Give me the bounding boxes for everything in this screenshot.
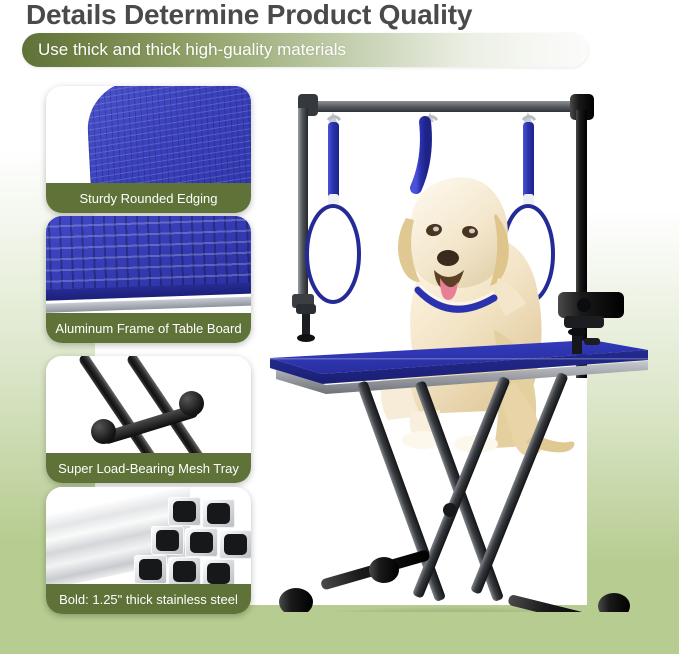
feature-card-aluminum-frame: Aluminum Frame of Table Board — [46, 216, 251, 343]
feature-card-mesh-tray: Super Load-Bearing Mesh Tray — [46, 356, 251, 483]
feature-image-aluminum-frame — [46, 216, 251, 313]
blue-mat-corner-shape — [86, 86, 251, 183]
feature-label-rounded-edging: Sturdy Rounded Edging — [46, 183, 251, 213]
grooming-noose-center — [416, 112, 437, 188]
tray-end-cap-right — [179, 391, 204, 416]
steel-tube — [202, 559, 235, 584]
page-title: Details Determine Product Quality — [26, 0, 472, 31]
steel-tube — [134, 555, 167, 584]
foot-front-left — [279, 588, 313, 612]
product-infographic: Details Determine Product Quality Use th… — [0, 0, 679, 654]
feature-image-rounded-edging — [46, 86, 251, 183]
steel-tube — [151, 526, 184, 555]
feature-label-aluminum-frame: Aluminum Frame of Table Board — [46, 313, 251, 343]
steel-tube — [168, 497, 201, 526]
steel-tube-stack — [138, 497, 246, 583]
feature-image-mesh-tray — [46, 356, 251, 453]
table-clamp-left — [296, 304, 316, 342]
subtitle-text: Use thick and thick high-guality materia… — [38, 40, 346, 60]
feature-card-rounded-edging: Sturdy Rounded Edging — [46, 86, 251, 213]
product-illustration — [262, 82, 662, 612]
steel-tube — [202, 499, 235, 528]
feature-image-stainless-steel — [46, 487, 251, 584]
steel-tube — [185, 528, 218, 557]
foot-rear-right — [598, 593, 630, 612]
tray-end-cap-left — [91, 419, 116, 444]
foot-rear-left — [369, 557, 399, 583]
steel-tube — [219, 530, 251, 559]
steel-tube — [168, 557, 201, 584]
floor-shadow — [282, 606, 622, 612]
arm-clamp-bracket — [558, 292, 624, 328]
feature-label-mesh-tray: Super Load-Bearing Mesh Tray — [46, 453, 251, 483]
waffle-board-surface — [46, 216, 251, 294]
feature-card-stainless-steel: Bold: 1.25" thick stainless steel — [46, 487, 251, 614]
feature-label-stainless-steel: Bold: 1.25" thick stainless steel — [46, 584, 251, 614]
grooming-noose-left — [307, 112, 359, 302]
